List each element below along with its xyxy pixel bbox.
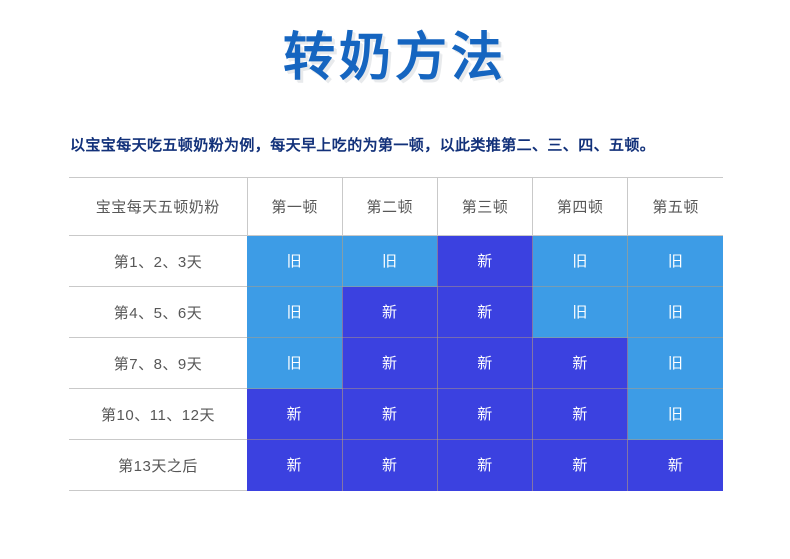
table-cell-old: 旧: [247, 236, 342, 287]
cell-label: 旧: [668, 356, 684, 371]
table-cell-new: 新: [533, 338, 628, 389]
table-row: 第1、2、3天旧旧新旧旧: [69, 236, 723, 287]
row-label: 第13天之后: [69, 440, 247, 491]
table-cell-old: 旧: [247, 287, 342, 338]
table-cell-new: 新: [437, 440, 532, 491]
cell-label: 旧: [668, 254, 684, 269]
table-cell-old: 旧: [628, 236, 723, 287]
table-row: 第10、11、12天新新新新旧: [69, 389, 723, 440]
cell-label: 旧: [668, 407, 684, 422]
table-cell-old: 旧: [342, 236, 437, 287]
page-subtitle: 以宝宝每天吃五顿奶粉为例，每天早上吃的为第一顿，以此类推第二、三、四、五顿。: [70, 134, 655, 155]
table-body: 第1、2、3天旧旧新旧旧第4、5、6天旧新新旧旧第7、8、9天旧新新新旧第10、…: [69, 236, 723, 491]
table-row: 第7、8、9天旧新新新旧: [69, 338, 723, 389]
row-label: 第1、2、3天: [69, 236, 247, 287]
table-row: 第13天之后新新新新新: [69, 440, 723, 491]
row-label: 第7、8、9天: [69, 338, 247, 389]
table-cell-new: 新: [533, 440, 628, 491]
column-header-meal-2: 第二顿: [342, 178, 437, 236]
table-cell-new: 新: [628, 440, 723, 491]
table-cell-new: 新: [533, 389, 628, 440]
cell-label: 新: [572, 407, 588, 422]
cell-label: 新: [477, 458, 493, 473]
table-cell-new: 新: [342, 389, 437, 440]
cell-label: 新: [287, 458, 303, 473]
cell-label: 旧: [382, 254, 398, 269]
table-cell-new: 新: [437, 236, 532, 287]
cell-label: 新: [477, 254, 493, 269]
cell-label: 旧: [287, 356, 303, 371]
table-header-row: 宝宝每天五顿奶粉 第一顿 第二顿 第三顿 第四顿 第五顿: [69, 178, 723, 236]
column-header-meal-5: 第五顿: [628, 178, 723, 236]
table-cell-new: 新: [437, 287, 532, 338]
cell-label: 新: [477, 305, 493, 320]
cell-label: 新: [572, 356, 588, 371]
table-cell-old: 旧: [628, 389, 723, 440]
table-header: 宝宝每天五顿奶粉 第一顿 第二顿 第三顿 第四顿 第五顿: [69, 178, 723, 236]
column-header-meal-3: 第三顿: [437, 178, 532, 236]
cell-label: 旧: [572, 254, 588, 269]
table-cell-new: 新: [437, 389, 532, 440]
table-cell-new: 新: [437, 338, 532, 389]
infographic-page: 转奶方法 以宝宝每天吃五顿奶粉为例，每天早上吃的为第一顿，以此类推第二、三、四、…: [0, 0, 790, 559]
table-row: 第4、5、6天旧新新旧旧: [69, 287, 723, 338]
table-cell-new: 新: [342, 338, 437, 389]
column-header-meal-4: 第四顿: [533, 178, 628, 236]
table-cell-new: 新: [342, 440, 437, 491]
cell-label: 新: [382, 356, 398, 371]
cell-label: 新: [382, 407, 398, 422]
page-title: 转奶方法: [0, 26, 790, 90]
cell-label: 旧: [287, 254, 303, 269]
milk-transition-table: 宝宝每天五顿奶粉 第一顿 第二顿 第三顿 第四顿 第五顿 第1、2、3天旧旧新旧…: [69, 177, 723, 491]
table-cell-old: 旧: [628, 287, 723, 338]
cell-label: 新: [477, 407, 493, 422]
table-cell-old: 旧: [533, 287, 628, 338]
cell-label: 旧: [572, 305, 588, 320]
table-cell-old: 旧: [247, 338, 342, 389]
table-cell-old: 旧: [533, 236, 628, 287]
cell-label: 新: [572, 458, 588, 473]
cell-label: 新: [382, 458, 398, 473]
cell-label: 新: [477, 356, 493, 371]
table-cell-old: 旧: [628, 338, 723, 389]
table-cell-new: 新: [247, 440, 342, 491]
table-cell-new: 新: [342, 287, 437, 338]
row-label: 第10、11、12天: [69, 389, 247, 440]
column-header-meal-1: 第一顿: [247, 178, 342, 236]
cell-label: 旧: [287, 305, 303, 320]
cell-label: 新: [382, 305, 398, 320]
row-label: 第4、5、6天: [69, 287, 247, 338]
cell-label: 旧: [668, 305, 684, 320]
column-header-label: 宝宝每天五顿奶粉: [69, 178, 247, 236]
table-cell-new: 新: [247, 389, 342, 440]
cell-label: 新: [668, 458, 684, 473]
milk-transition-table-container: 宝宝每天五顿奶粉 第一顿 第二顿 第三顿 第四顿 第五顿 第1、2、3天旧旧新旧…: [69, 177, 723, 491]
cell-label: 新: [287, 407, 303, 422]
